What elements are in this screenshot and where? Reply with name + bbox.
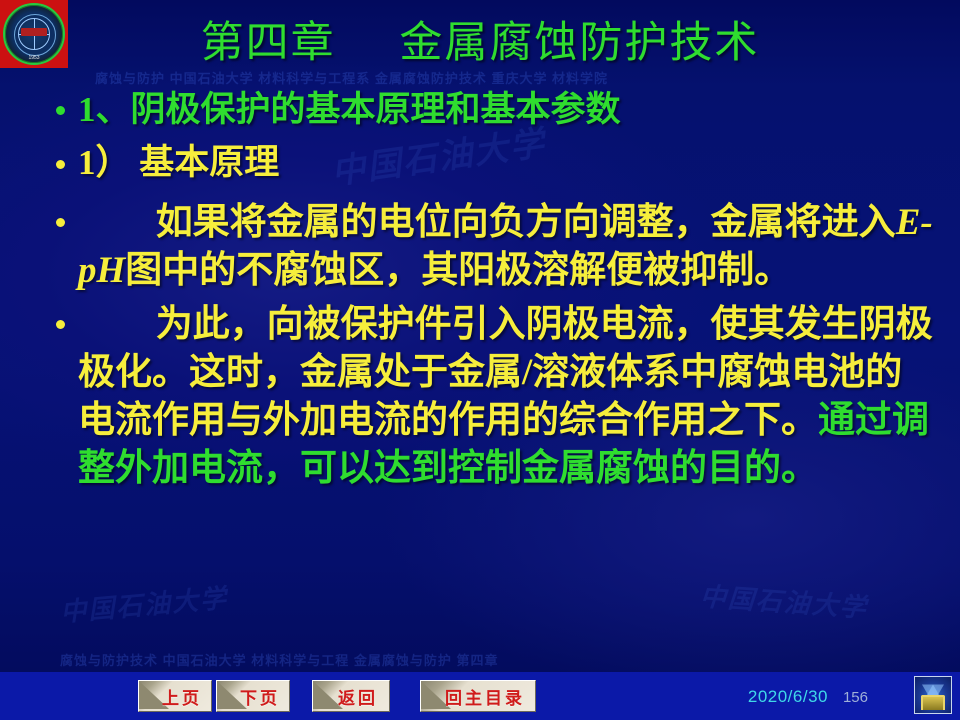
background-watermark-bottom: 腐蚀与防护技术 中国石油大学 材料科学与工程 金属腐蚀与防护 第四章 — [60, 650, 498, 669]
paragraph-1-part-b: 图中的不腐蚀区，其阳极溶解便被抑制。 — [125, 250, 791, 291]
prev-page-button-label: 上页 — [148, 684, 202, 709]
background-ghost-text-3: 中国石油大学 — [699, 576, 869, 625]
footer-date: 2020/6/30 — [748, 687, 828, 707]
paragraph-2-part-yellow: 为此，向被保护件引入阴极电流，使其发生阴极极化。这时，金属处于金属/溶液体系中腐… — [78, 304, 933, 441]
paragraph-1-part-a: 如果将金属的电位向负方向调整，金属将进入 — [156, 202, 896, 243]
university-logo: 1953 — [0, 0, 68, 68]
seal-year: 1953 — [28, 55, 39, 61]
seal-icon: 1953 — [3, 3, 65, 65]
bullet-heading-text: 1、阴极保护的基本原理和基本参数 — [78, 90, 621, 129]
back-button[interactable]: 返回 — [312, 680, 390, 712]
footer-bar: 上页 下页 返回 回主目录 2020/6/30 156 — [0, 672, 960, 720]
bullet-subheading-text: 1） 基本原理 — [78, 143, 279, 182]
prev-page-button[interactable]: 上页 — [138, 680, 212, 712]
globe-icon — [18, 18, 50, 50]
bullet-heading: 1、阴极保护的基本原理和基本参数 — [52, 88, 938, 131]
background-watermark-top: 腐蚀与防护 中国石油大学 材料科学与工程系 金属腐蚀防护技术 重庆大学 材料学院 — [95, 68, 608, 87]
page-title: 第四章 金属腐蚀防护技术 — [0, 8, 960, 70]
menorah-star-icon — [914, 676, 952, 714]
bullet-paragraph-1: 如果将金属的电位向负方向调整，金属将进入E-pH图中的不腐蚀区，其阳极溶解便被抑… — [52, 199, 938, 295]
next-page-button[interactable]: 下页 — [216, 680, 290, 712]
slide-canvas: 腐蚀与防护 中国石油大学 材料科学与工程系 金属腐蚀防护技术 重庆大学 材料学院… — [0, 0, 960, 720]
background-ghost-text-2: 中国石油大学 — [59, 578, 230, 630]
candelabra-shape — [921, 695, 945, 710]
bullet-paragraph-2: 为此，向被保护件引入阴极电流，使其发生阴极极化。这时，金属处于金属/溶液体系中腐… — [52, 301, 938, 493]
home-menu-button-label: 回主目录 — [431, 684, 525, 709]
home-menu-button[interactable]: 回主目录 — [420, 680, 536, 712]
seal-nameplate — [21, 28, 47, 36]
back-button-label: 返回 — [324, 684, 378, 709]
footer-page-number: 156 — [843, 689, 868, 706]
slide-body: 1、阴极保护的基本原理和基本参数 1） 基本原理 如果将金属的电位向负方向调整，… — [0, 88, 960, 497]
next-page-button-label: 下页 — [226, 684, 280, 709]
bullet-subheading: 1） 基本原理 — [52, 141, 938, 184]
